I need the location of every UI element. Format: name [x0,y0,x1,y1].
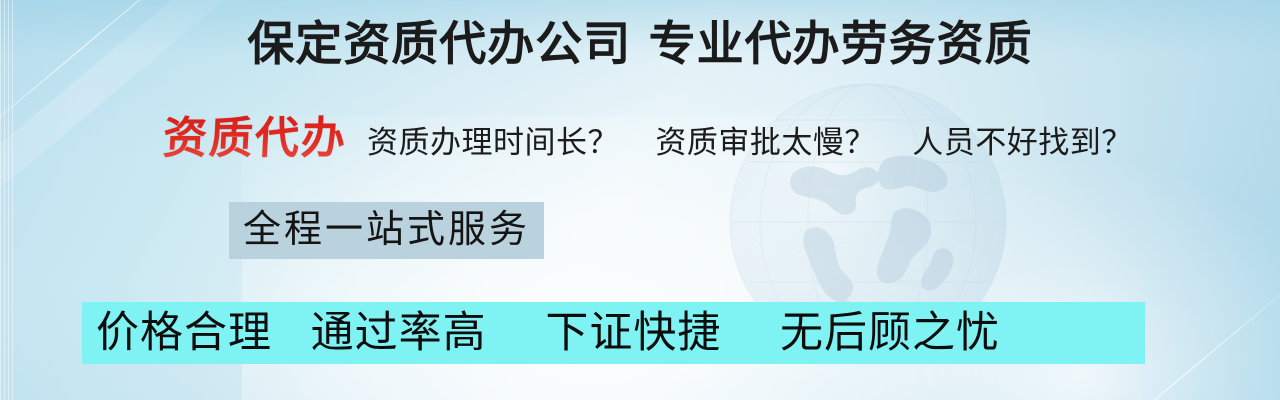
question-item-1: 资质办理时间长？ [367,125,619,161]
service-tagline-wrap: 全程一站式服务 [229,202,544,259]
questions-row: 资质代办 资质办理时间长？ 资质审批太慢？ 人员不好找到？ [163,113,1133,165]
question-item-3: 人员不好找到？ [912,125,1133,161]
service-tagline: 全程一站式服务 [229,202,544,259]
benefit-item-1: 价格合理 [96,308,272,358]
benefits-strip: 价格合理 通过率高 下证快捷 无后顾之忧 [82,302,1145,364]
promo-banner: 保定资质代办公司 专业代办劳务资质 资质代办 资质办理时间长？ 资质审批太慢？ … [0,0,1280,400]
banner-content: 保定资质代办公司 专业代办劳务资质 资质代办 资质办理时间长？ 资质审批太慢？ … [0,0,1280,400]
banner-headline: 保定资质代办公司 专业代办劳务资质 [0,14,1280,76]
question-list: 资质办理时间长？ 资质审批太慢？ 人员不好找到？ [367,121,1133,165]
benefit-item-2: 通过率高 [311,308,487,358]
benefit-item-4: 无后顾之忧 [780,308,1000,358]
brand-stamp-text: 资质代办 [162,113,349,165]
question-item-2: 资质审批太慢？ [655,125,876,161]
benefit-item-3: 下证快捷 [545,308,721,358]
benefits-list: 价格合理 通过率高 下证快捷 无后顾之忧 [82,308,1000,358]
